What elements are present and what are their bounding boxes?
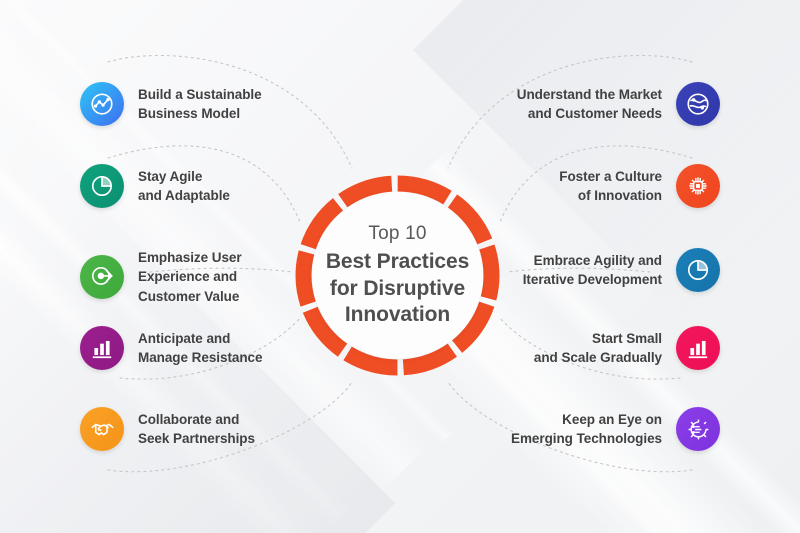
- gear-tech-icon: [685, 416, 712, 443]
- icon-bubble[interactable]: [80, 255, 124, 299]
- practice-label: Anticipate and Manage Resistance: [138, 329, 262, 368]
- bar-chart-icon: [685, 335, 711, 361]
- practice-item-collaborate-and-seek-partnerships[interactable]: Collaborate and Seek Partnerships: [80, 407, 255, 451]
- icon-bubble[interactable]: [80, 82, 124, 126]
- center-line-3: Innovation: [326, 302, 469, 329]
- center-top-label: Top 10: [368, 222, 426, 246]
- bar-chart-icon: [89, 335, 115, 361]
- practice-label: Build a Sustainable Business Model: [138, 85, 262, 124]
- pie-chart-icon: [89, 173, 115, 199]
- icon-bubble[interactable]: [80, 407, 124, 451]
- practice-label: Foster a Culture of Innovation: [559, 167, 662, 206]
- pie-chart-icon: [685, 257, 711, 283]
- center-ring: Top 10 Best Practices for Disruptive Inn…: [295, 175, 500, 376]
- icon-bubble[interactable]: [676, 164, 720, 208]
- practice-label: Stay Agile and Adaptable: [138, 167, 230, 206]
- practice-label: Collaborate and Seek Partnerships: [138, 410, 255, 449]
- practice-label: Start Small and Scale Gradually: [534, 329, 662, 368]
- target-arrow-icon: [89, 264, 115, 290]
- practice-item-foster-a-culture-of-innovation[interactable]: Foster a Culture of Innovation: [559, 164, 720, 208]
- center-line-2: for Disruptive: [326, 276, 469, 303]
- practice-label: Understand the Market and Customer Needs: [517, 85, 662, 124]
- practice-item-embrace-agility-iterative-development[interactable]: Embrace Agility and Iterative Developmen…: [523, 248, 720, 292]
- practice-label: Embrace Agility and Iterative Developmen…: [523, 251, 662, 290]
- globe-network-icon: [685, 91, 711, 117]
- practice-label: Emphasize User Experience and Customer V…: [138, 248, 242, 306]
- practice-item-emphasize-user-experience[interactable]: Emphasize User Experience and Customer V…: [80, 248, 242, 306]
- chip-processor-icon: [685, 173, 711, 199]
- practice-item-stay-agile-and-adaptable[interactable]: Stay Agile and Adaptable: [80, 164, 230, 208]
- practice-item-understand-the-market[interactable]: Understand the Market and Customer Needs: [517, 82, 720, 126]
- analytics-network-icon: [89, 91, 115, 117]
- icon-bubble[interactable]: [676, 248, 720, 292]
- icon-bubble[interactable]: [676, 82, 720, 126]
- icon-bubble[interactable]: [80, 326, 124, 370]
- infographic-canvas: Top 10 Best Practices for Disruptive Inn…: [0, 0, 800, 533]
- practice-item-keep-an-eye-on-emerging-technologies[interactable]: Keep an Eye on Emerging Technologies: [511, 407, 720, 451]
- practice-label: Keep an Eye on Emerging Technologies: [511, 410, 662, 449]
- practice-item-anticipate-and-manage-resistance[interactable]: Anticipate and Manage Resistance: [80, 326, 262, 370]
- center-line-1: Best Practices: [326, 249, 469, 276]
- handshake-icon: [89, 416, 116, 443]
- icon-bubble[interactable]: [676, 407, 720, 451]
- practice-item-start-small-and-scale-gradually[interactable]: Start Small and Scale Gradually: [534, 326, 720, 370]
- icon-bubble[interactable]: [80, 164, 124, 208]
- practice-item-build-sustainable-business-model[interactable]: Build a Sustainable Business Model: [80, 82, 262, 126]
- icon-bubble[interactable]: [676, 326, 720, 370]
- center-text-block: Top 10 Best Practices for Disruptive Inn…: [312, 192, 483, 359]
